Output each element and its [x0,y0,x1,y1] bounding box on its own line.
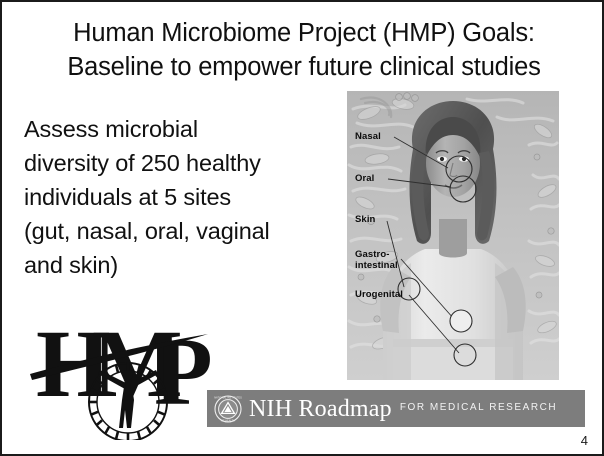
body-line-1: Assess microbial [24,112,344,146]
svg-text:OF HEALTH: OF HEALTH [221,419,235,422]
title-line-2: Baseline to empower future clinical stud… [16,50,592,84]
nih-roadmap-banner: NATIONAL INSTITUTES OF HEALTH NIH Roadma… [207,390,585,427]
body-line-4: (gut, nasal, oral, vaginal [24,214,344,248]
figure-label-skin: Skin [355,214,375,225]
title-line-1: Human Microbiome Project (HMP) Goals: [16,16,592,50]
body-text-block: Assess microbial diversity of 250 health… [24,112,344,282]
figure-label-oral: Oral [355,173,374,184]
figure-label-urogenital: Urogenital [355,289,403,300]
slide-title: Human Microbiome Project (HMP) Goals: Ba… [16,16,592,84]
body-line-2: diversity of 250 healthy [24,146,344,180]
page-number: 4 [581,433,588,448]
body-sites-figure: Nasal Oral Skin Gastro- intestinal Uroge… [347,91,559,380]
body-line-3: individuals at 5 sites [24,180,344,214]
figure-label-gastrointestinal: Gastro- intestinal [355,249,398,271]
figure-label-gi-line-2: intestinal [355,260,398,271]
nih-roadmap-wordmark: NIH Roadmap [249,397,392,421]
hmp-logo: H M P [30,318,220,440]
slide-canvas: Human Microbiome Project (HMP) Goals: Ba… [0,0,604,456]
body-line-5: and skin) [24,248,344,282]
svg-text:NATIONAL INSTITUTES: NATIONAL INSTITUTES [214,396,242,399]
figure-label-gi-line-1: Gastro- [355,249,398,260]
hmp-logo-letter-p: P [154,318,213,425]
callout-circle-gi [450,310,472,332]
hmp-logo-graphic: H M P [30,318,220,440]
nih-seal-icon: NATIONAL INSTITUTES OF HEALTH [214,395,242,423]
figure-label-nasal: Nasal [355,131,381,142]
nih-roadmap-tagline: FOR MEDICAL RESEARCH [400,396,557,421]
